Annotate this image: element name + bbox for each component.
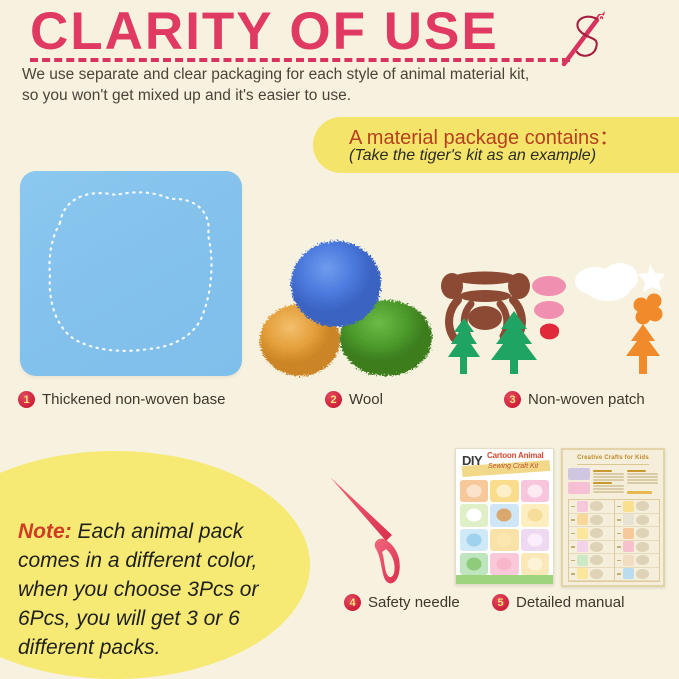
badge-3: 3 [504,391,521,408]
manual-text-lines [593,468,624,496]
material-package-callout: A material package contains： (Take the t… [313,117,679,173]
white-cloud-icon [575,263,638,301]
caption-patch: 3 Non-woven patch [504,391,645,408]
subtitle-line-1: We use separate and clear packaging for … [22,64,662,85]
package-animal-cell [460,504,488,526]
package-grass-strip [456,575,553,584]
manual-swatch [568,482,590,494]
manual-title: Creative Crafts for Kids [563,455,663,461]
orange-flower-icon [634,294,663,325]
package-animal-cell [490,480,518,502]
caption-label-needle: Safety needle [368,594,460,611]
diy-kit-package-photo: DIY Cartoon Animal Sewing Craft Kit [455,448,554,585]
page-subtitle: We use separate and clear packaging for … [22,64,662,106]
manual-table-row [569,541,614,555]
manual-table-row [569,514,614,528]
wool-pompoms-photo [252,232,440,380]
manual-table-row [615,541,660,555]
caption-needle: 4 Safety needle [344,594,460,611]
blue-nonwoven-base-photo [20,171,242,376]
infographic-root: CLARITY OF USE We use separate and clear… [0,0,679,679]
caption-base: 1 Thickened non-woven base [18,391,225,408]
perforation-outline-icon [20,171,242,376]
page-title: CLARITY OF USE [30,4,499,60]
red-nose-icon [540,323,559,339]
manual-table-row [569,500,614,514]
orange-tree-icon [626,324,660,374]
package-animal-grid [460,480,549,575]
package-animal-cell [460,480,488,502]
pink-cheek-top-icon [532,276,566,296]
nonwoven-patch-photo [432,256,672,374]
white-star-icon [638,264,665,292]
manual-divider [577,464,649,465]
caption-label-patch: Non-woven patch [528,391,645,408]
package-animal-cell [521,529,549,551]
manual-table-row [615,514,660,528]
manual-table-row [615,554,660,568]
pink-cheek-bottom-icon [534,301,564,319]
manual-table-column [615,500,660,581]
manual-table-row [569,554,614,568]
caption-label-base: Thickened non-woven base [42,391,225,408]
package-animal-cell [521,480,549,502]
package-title-main: DIY [462,453,482,468]
package-animal-cell [490,504,518,526]
safety-needle-photo [326,473,441,593]
badge-2: 2 [325,391,342,408]
manual-text-lines [627,468,658,496]
package-title-script: Sewing Craft Kit [488,463,538,470]
package-title-sub: Cartoon Animal [487,451,543,460]
manual-table-row [569,527,614,541]
package-animal-cell [460,529,488,551]
caption-label-manual: Detailed manual [516,594,624,611]
callout-heading: A material package contains： [349,121,619,150]
detailed-manual-photo: Creative Crafts for Kids [561,448,665,587]
subtitle-line-2: so you won't get mixed up and it's easie… [22,85,662,106]
manual-table-row [569,568,614,582]
badge-4: 4 [344,594,361,611]
manual-table [568,499,660,582]
manual-table-row [615,568,660,582]
package-animal-cell [490,529,518,551]
package-animal-cell [490,553,518,575]
note-keyword: Note: [18,520,72,543]
badge-5: 5 [492,594,509,611]
manual-table-row [615,500,660,514]
package-animal-cell [521,504,549,526]
caption-label-wool: Wool [349,391,383,408]
caption-manual: 5 Detailed manual [492,594,624,611]
manual-intro [568,468,658,496]
caption-wool: 2 Wool [325,391,383,408]
manual-swatch [568,468,590,480]
manual-table-column [569,500,614,581]
package-animal-cell [521,553,549,575]
title-divider [30,58,570,62]
callout-note: (Take the tiger's kit as an example) [349,147,596,165]
badge-1: 1 [18,391,35,408]
note-text: Note: Each animal pack comes in a differ… [18,517,268,662]
manual-table-row [615,527,660,541]
package-animal-cell [460,553,488,575]
